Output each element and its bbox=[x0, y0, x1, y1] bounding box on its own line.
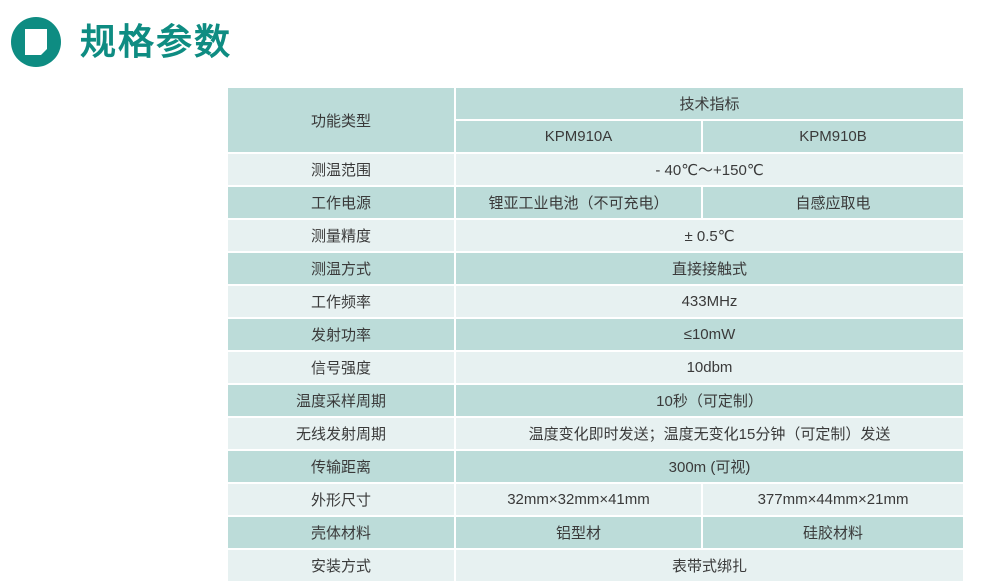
table-row: 测量精度 ± 0.5℃ bbox=[228, 220, 963, 253]
row-label: 外形尺寸 bbox=[228, 484, 456, 517]
row-value-a: 32mm×32mm×41mm bbox=[456, 484, 703, 517]
table-row: 外形尺寸 32mm×32mm×41mm 377mm×44mm×21mm bbox=[228, 484, 963, 517]
row-value-merged: 表带式绑扎 bbox=[456, 550, 963, 581]
table-row: 测温范围 - 40℃～+150℃ bbox=[228, 154, 963, 187]
row-value-a: 锂亚工业电池（不可充电） bbox=[456, 187, 703, 220]
table-row: 发射功率 ≤10mW bbox=[228, 319, 963, 352]
table-row: 工作频率 433MHz bbox=[228, 286, 963, 319]
table-row: 传输距离 300m (可视) bbox=[228, 451, 963, 484]
row-value-merged: 温度变化即时发送；温度无变化15分钟（可定制）发送 bbox=[456, 418, 963, 451]
header-cell-function-type: 功能类型 bbox=[228, 88, 456, 154]
row-label: 传输距离 bbox=[228, 451, 456, 484]
row-value-merged: 10dbm bbox=[456, 352, 963, 385]
row-value-merged: ± 0.5℃ bbox=[456, 220, 963, 253]
table-row: 信号强度 10dbm bbox=[228, 352, 963, 385]
spec-table-container: 功能类型 技术指标 KPM910A KPM910B 测温范围 - 40℃～+15… bbox=[228, 88, 963, 581]
header-cell-model-a: KPM910A bbox=[456, 121, 703, 154]
page-header: 规格参数 bbox=[10, 16, 232, 68]
row-label: 测温范围 bbox=[228, 154, 456, 187]
row-label: 测量精度 bbox=[228, 220, 456, 253]
row-value-merged: 300m (可视) bbox=[456, 451, 963, 484]
row-label: 信号强度 bbox=[228, 352, 456, 385]
row-label: 测温方式 bbox=[228, 253, 456, 286]
row-value-merged: ≤10mW bbox=[456, 319, 963, 352]
row-label: 工作频率 bbox=[228, 286, 456, 319]
table-row: 壳体材料 铝型材 硅胶材料 bbox=[228, 517, 963, 550]
row-label: 壳体材料 bbox=[228, 517, 456, 550]
page-title: 规格参数 bbox=[80, 24, 232, 60]
table-row: 测温方式 直接接触式 bbox=[228, 253, 963, 286]
header-cell-model-b: KPM910B bbox=[703, 121, 963, 154]
row-label: 温度采样周期 bbox=[228, 385, 456, 418]
row-label: 安装方式 bbox=[228, 550, 456, 581]
row-label: 工作电源 bbox=[228, 187, 456, 220]
row-value-merged: 10秒（可定制） bbox=[456, 385, 963, 418]
row-value-merged: 433MHz bbox=[456, 286, 963, 319]
row-label: 发射功率 bbox=[228, 319, 456, 352]
row-value-b: 377mm×44mm×21mm bbox=[703, 484, 963, 517]
table-row: 无线发射周期 温度变化即时发送；温度无变化15分钟（可定制）发送 bbox=[228, 418, 963, 451]
row-value-merged: 直接接触式 bbox=[456, 253, 963, 286]
table-row: 工作电源 锂亚工业电池（不可充电） 自感应取电 bbox=[228, 187, 963, 220]
spec-table-body: 功能类型 技术指标 KPM910A KPM910B 测温范围 - 40℃～+15… bbox=[228, 88, 963, 581]
header-cell-tech-spec: 技术指标 bbox=[456, 88, 963, 121]
table-header-row-top: 功能类型 技术指标 bbox=[228, 88, 963, 121]
row-value-a: 铝型材 bbox=[456, 517, 703, 550]
row-value-b: 硅胶材料 bbox=[703, 517, 963, 550]
row-value-merged: - 40℃～+150℃ bbox=[456, 154, 963, 187]
specification-table: 功能类型 技术指标 KPM910A KPM910B 测温范围 - 40℃～+15… bbox=[228, 88, 963, 581]
row-value-b: 自感应取电 bbox=[703, 187, 963, 220]
row-label: 无线发射周期 bbox=[228, 418, 456, 451]
table-row: 安装方式 表带式绑扎 bbox=[228, 550, 963, 581]
table-row: 温度采样周期 10秒（可定制） bbox=[228, 385, 963, 418]
document-square-icon bbox=[10, 16, 62, 68]
